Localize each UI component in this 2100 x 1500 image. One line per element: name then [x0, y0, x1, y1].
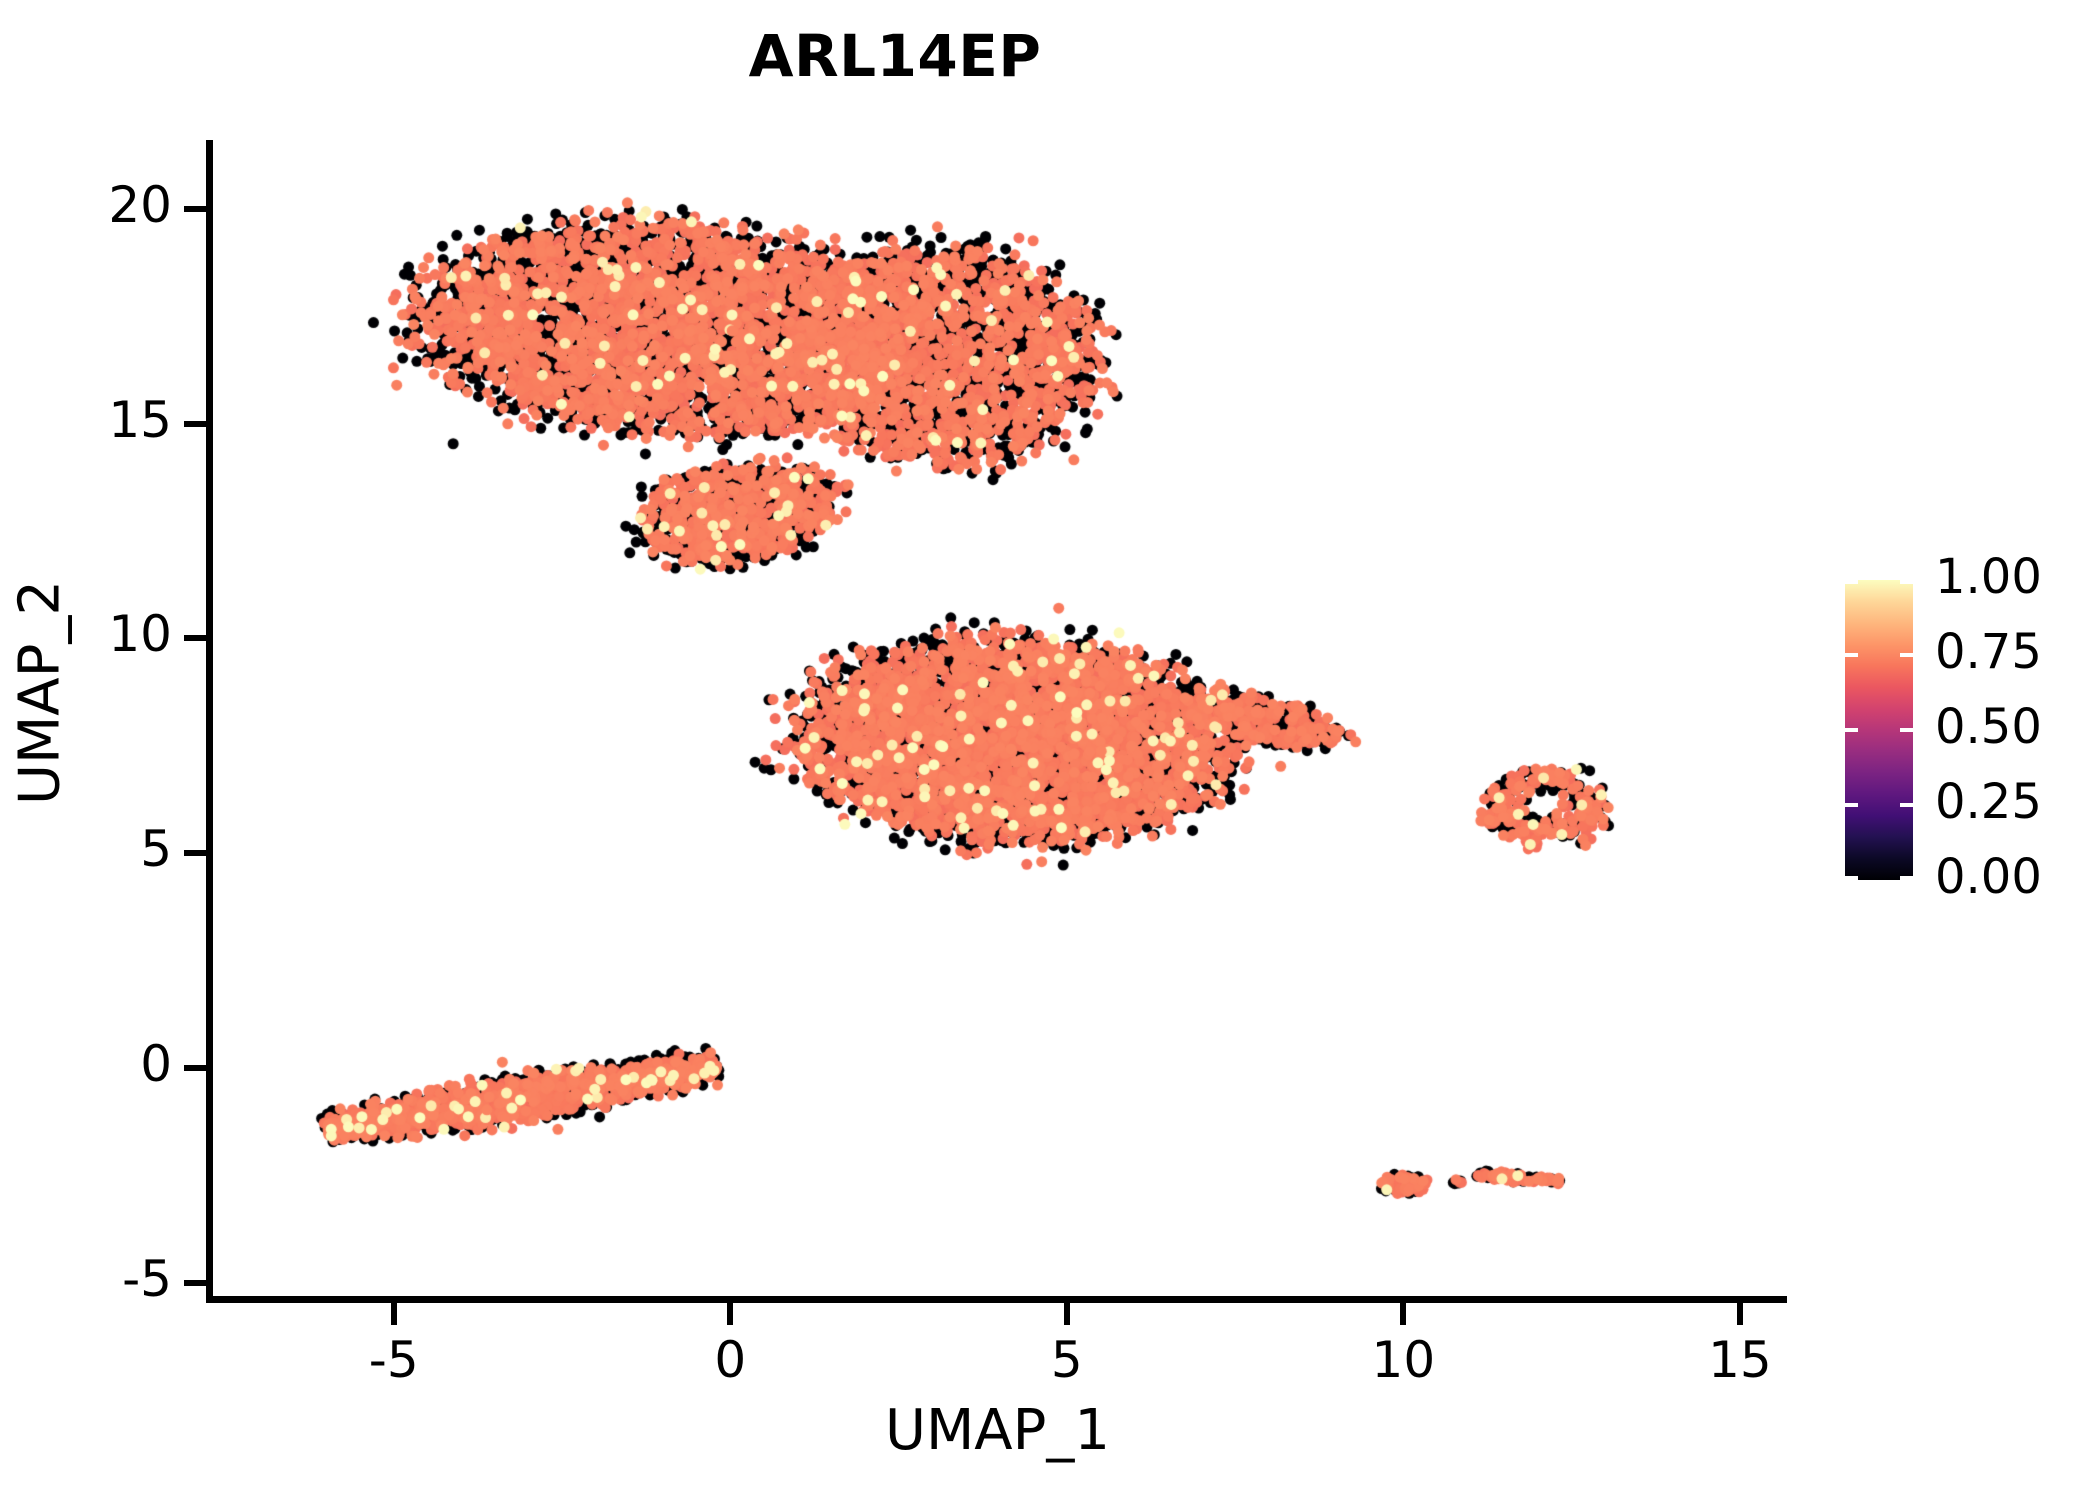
colorbar-tick-mark — [1900, 803, 1913, 807]
y-axis-label: UMAP_2 — [8, 373, 73, 1013]
y-tick-mark — [184, 421, 206, 427]
y-tick-mark — [184, 1280, 206, 1286]
colorbar-tick-mark — [1845, 580, 1858, 584]
y-axis-spine — [206, 140, 213, 1303]
x-tick-label: 10 — [1303, 1331, 1503, 1389]
colorbar-tick-mark — [1900, 876, 1913, 880]
x-tick-mark — [1400, 1303, 1406, 1325]
figure-root: ARL14EP -505101520 -5051015 UMAP_1 UMAP_… — [0, 0, 2100, 1500]
x-axis-label: UMAP_1 — [0, 1398, 1995, 1463]
x-tick-mark — [391, 1303, 397, 1325]
colorbar-tick-label: 0.25 — [1935, 774, 2042, 830]
y-tick-label: 0 — [140, 1035, 172, 1093]
x-tick-label: -5 — [294, 1331, 494, 1389]
colorbar-tick-mark — [1900, 580, 1913, 584]
x-tick-mark — [1064, 1303, 1070, 1325]
y-tick-label: 15 — [108, 391, 172, 449]
x-tick-mark — [727, 1303, 733, 1325]
y-tick-label: 20 — [108, 176, 172, 234]
y-tick-mark — [184, 206, 206, 212]
colorbar-tick-label: 0.75 — [1935, 624, 2042, 680]
colorbar-tick-label: 0.00 — [1935, 849, 2042, 905]
colorbar-tick-mark — [1845, 728, 1858, 732]
umap-scatter-canvas — [212, 140, 1787, 1300]
x-axis-spine — [206, 1296, 1787, 1303]
colorbar-tick-label: 1.00 — [1935, 549, 2042, 605]
scatter-plot-area — [212, 140, 1787, 1300]
y-tick-mark — [184, 1065, 206, 1071]
page-title: ARL14EP — [0, 22, 1790, 90]
colorbar-tick-label: 0.50 — [1935, 699, 2042, 755]
y-tick-mark — [184, 850, 206, 856]
colorbar-tick-mark — [1900, 728, 1913, 732]
x-tick-label: 0 — [630, 1331, 830, 1389]
colorbar-tick-mark — [1845, 876, 1858, 880]
colorbar-tick-mark — [1900, 653, 1913, 657]
colorbar-tick-mark — [1845, 803, 1858, 807]
colorbar-tick-mark — [1845, 653, 1858, 657]
x-tick-mark — [1737, 1303, 1743, 1325]
y-tick-label: 10 — [108, 605, 172, 663]
y-tick-mark — [184, 635, 206, 641]
y-tick-label: -5 — [122, 1250, 172, 1308]
x-tick-label: 5 — [967, 1331, 1167, 1389]
colorbar — [1845, 580, 1913, 880]
y-tick-label: 5 — [140, 820, 172, 878]
x-tick-label: 15 — [1640, 1331, 1840, 1389]
